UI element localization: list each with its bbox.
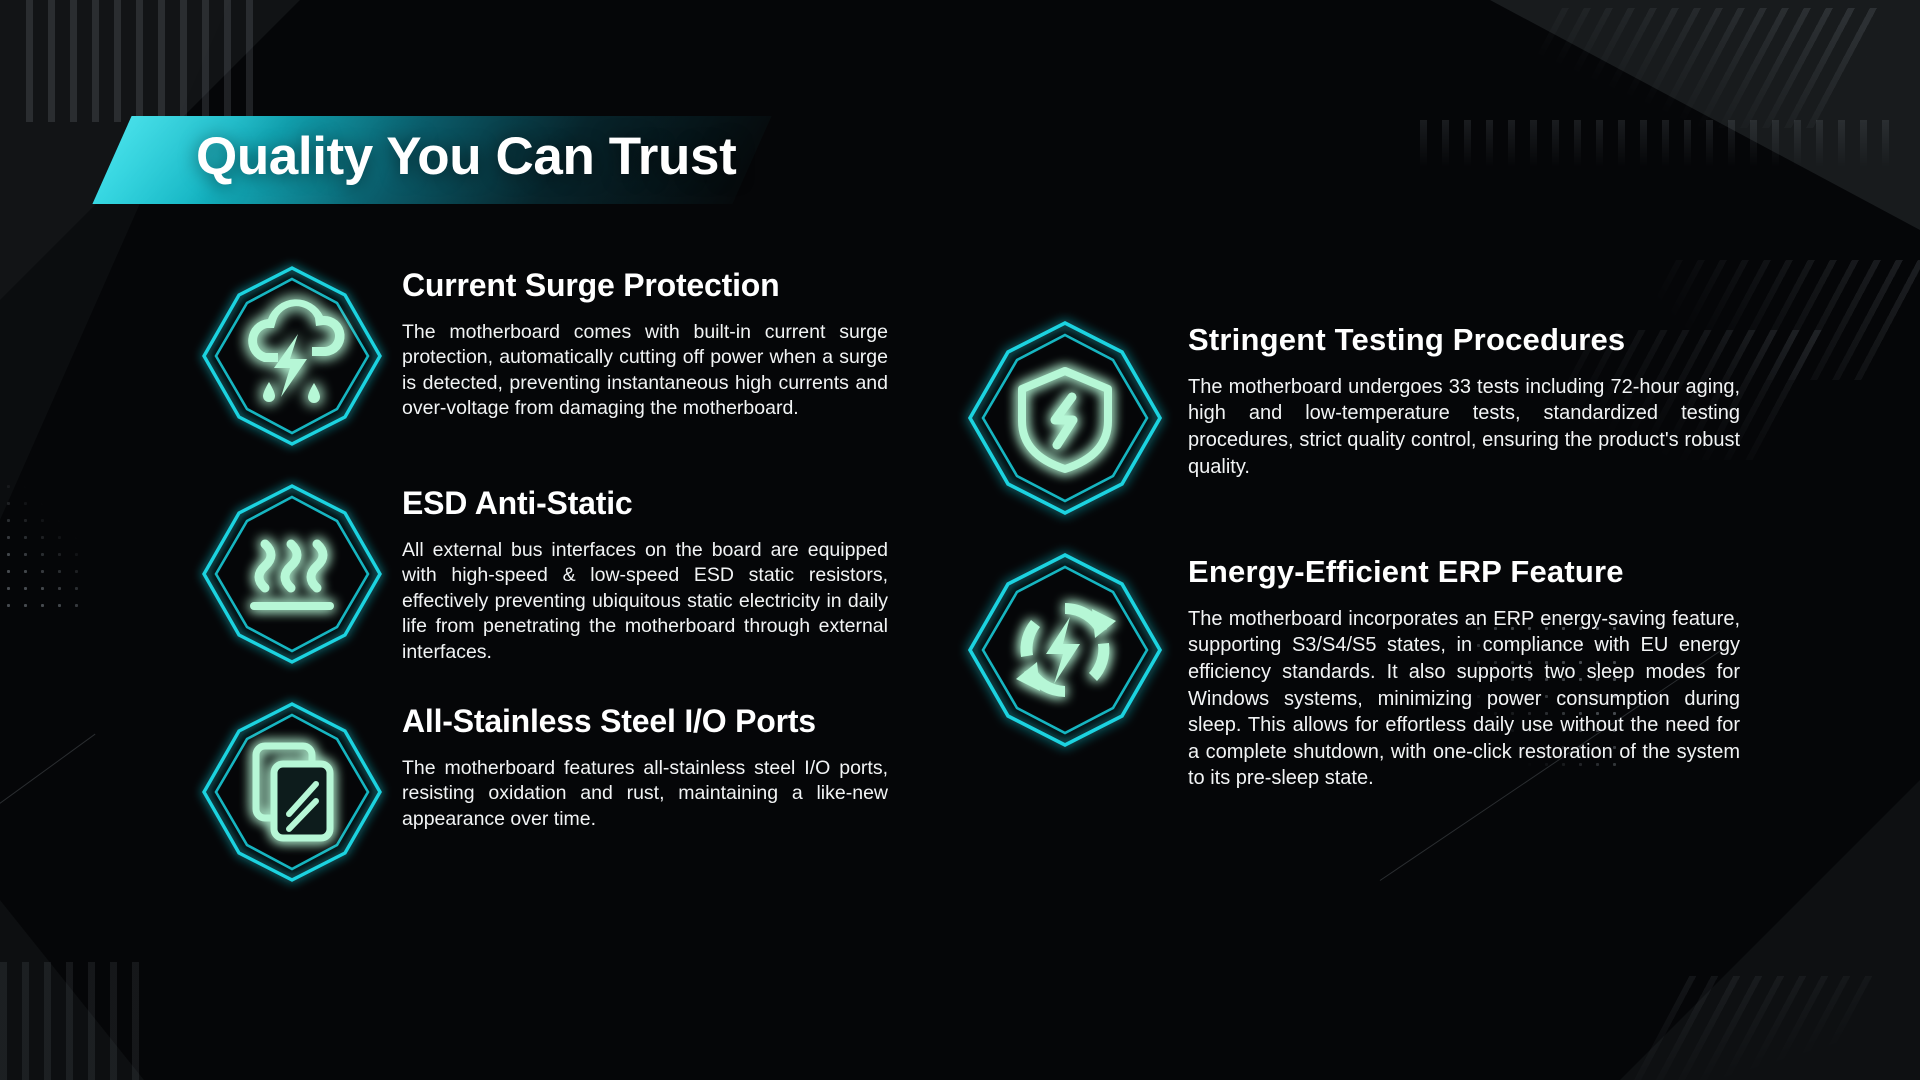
left-feature-column: Current Surge Protection The motherboard… [186, 250, 926, 898]
stripe-pattern-top-right-lower [1420, 120, 1890, 168]
feature-title: ESD Anti-Static [402, 486, 888, 522]
feature-body: The motherboard incorporates an ERP ener… [1188, 606, 1740, 792]
feature-body: The motherboard undergoes 33 tests inclu… [1188, 374, 1740, 480]
icon-frame-erp [952, 537, 1178, 763]
feature-body: All external bus interfaces on the board… [402, 538, 888, 666]
stripe-pattern-top-right-upper [1498, 8, 1892, 128]
feature-text-testing: Stringent Testing Procedures The motherb… [1188, 305, 1740, 480]
icon-frame-esd [186, 468, 398, 680]
feature-current-surge-protection: Current Surge Protection The motherboard… [186, 250, 926, 462]
feature-title: Stringent Testing Procedures [1188, 323, 1740, 358]
corner-triangle-top-right [1490, 0, 1920, 230]
corner-triangle-bottom-right [1620, 780, 1920, 1080]
right-feature-column: Stringent Testing Procedures The motherb… [952, 305, 1742, 792]
stripe-pattern-top-left [26, 0, 262, 122]
dot-grid-left [0, 478, 80, 618]
storm-cloud-lightning-icon [186, 250, 398, 462]
icon-frame-testing [952, 305, 1178, 531]
feature-esd-anti-static: ESD Anti-Static All external bus interfa… [186, 468, 926, 680]
feature-stringent-testing: Stringent Testing Procedures The motherb… [952, 305, 1742, 531]
recycle-lightning-icon [952, 537, 1178, 763]
feature-text-erp: Energy-Efficient ERP Feature The motherb… [1188, 537, 1740, 792]
diagonal-hairline-left [0, 734, 95, 811]
page-title: Quality You Can Trust [196, 126, 736, 187]
stacked-io-ports-icon [186, 686, 398, 898]
feature-body: The motherboard features all-stainless s… [402, 756, 888, 833]
static-waves-icon [186, 468, 398, 680]
feature-title: Current Surge Protection [402, 268, 888, 304]
feature-body: The motherboard comes with built-in curr… [402, 320, 888, 422]
icon-frame-surge [186, 250, 398, 462]
feature-text-surge: Current Surge Protection The motherboard… [402, 250, 888, 422]
shield-lightning-icon [952, 305, 1178, 531]
feature-title: Energy-Efficient ERP Feature [1188, 555, 1740, 590]
corner-triangle-bottom-left [0, 900, 160, 1080]
stripe-pattern-bottom-left [0, 962, 140, 1080]
feature-title: All-Stainless Steel I/O Ports [402, 704, 888, 740]
feature-text-esd: ESD Anti-Static All external bus interfa… [402, 468, 888, 665]
feature-stainless-io-ports: All-Stainless Steel I/O Ports The mother… [186, 686, 926, 898]
icon-frame-io [186, 686, 398, 898]
feature-energy-efficient-erp: Energy-Efficient ERP Feature The motherb… [952, 537, 1742, 792]
feature-text-io: All-Stainless Steel I/O Ports The mother… [402, 686, 888, 832]
stripe-pattern-bottom-right [1631, 976, 1879, 1080]
